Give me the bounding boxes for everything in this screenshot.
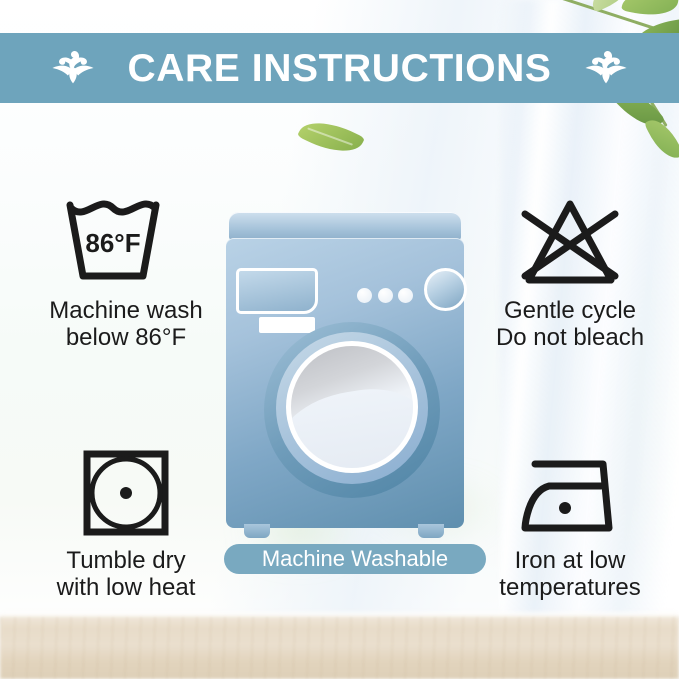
symbol-caption: Gentle cycle Do not bleach: [470, 298, 670, 352]
wash-temperature-value: 86°F: [85, 228, 140, 258]
symbol-tumble-dry: Tumble dry with low heat: [18, 446, 234, 602]
wood-grain-texture: [0, 617, 679, 679]
symbol-caption: Machine wash below 86°F: [18, 298, 234, 352]
machine-washable-label: Machine Washable: [262, 548, 448, 570]
machine-foot: [418, 524, 444, 538]
symbol-caption: Tumble dry with low heat: [18, 548, 234, 602]
door-ring-inner: [286, 341, 418, 473]
program-knob-icon: [424, 268, 467, 311]
iron-icon: [505, 446, 635, 542]
washer-door-icon: [264, 322, 440, 498]
indicator-dot: [378, 288, 393, 303]
machine-top-lid: [229, 212, 461, 240]
symbol-iron-low: Iron at low temperatures: [470, 446, 670, 602]
fleur-de-lis-icon: [578, 46, 634, 90]
banner: CARE INSTRUCTIONS: [0, 33, 679, 103]
triangle-crossed-out-icon: [505, 196, 635, 292]
door-glass: [291, 346, 413, 468]
machine-body: [226, 238, 464, 528]
page-title: CARE INSTRUCTIONS: [127, 49, 551, 88]
care-instructions-infographic: CARE INSTRUCTIONS 86°F Machine wash belo…: [0, 0, 679, 679]
tumble-dry-icon: [61, 446, 191, 542]
symbol-caption: Iron at low temperatures: [470, 548, 670, 602]
indicator-dot: [398, 288, 413, 303]
door-glass-highlight: [291, 381, 413, 468]
drawer-slot: [259, 317, 315, 333]
machine-washable-badge: Machine Washable: [224, 544, 486, 574]
detergent-drawer-icon: [236, 268, 318, 314]
symbol-do-not-bleach: Gentle cycle Do not bleach: [470, 196, 670, 352]
door-ring-outer: [276, 332, 428, 484]
symbol-machine-wash: 86°F Machine wash below 86°F: [18, 196, 234, 352]
machine-foot: [244, 524, 270, 538]
wash-tub-icon: 86°F: [61, 196, 191, 292]
indicator-dot: [357, 288, 372, 303]
fleur-de-lis-icon: [45, 46, 101, 90]
washing-machine-illustration: [226, 212, 464, 542]
